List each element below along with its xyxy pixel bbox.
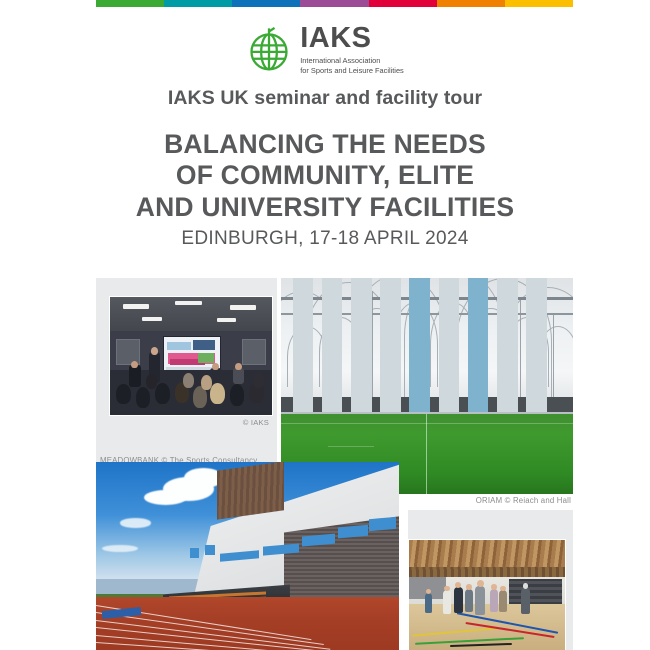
headline-line-1: BALANCING THE NEEDS [0, 129, 650, 160]
logo-wordmark: IAKS [300, 24, 404, 53]
brand-color-bar [96, 0, 573, 7]
seminar-photo-credit: © IAKS [243, 418, 269, 427]
poster-page: IAKS International Association for Sport… [0, 0, 650, 650]
globe-icon [246, 27, 292, 73]
sports-hall-panel [408, 510, 573, 650]
sports-hall-photo [408, 539, 566, 650]
color-bar-segment-teal [164, 0, 232, 7]
seminar-panel: © IAKS MEADOWBANK © The Sports Consultan… [96, 278, 277, 473]
color-bar-segment-yellow [505, 0, 573, 7]
color-bar-segment-green [96, 0, 164, 7]
logo-tagline-line1: International Association [300, 56, 380, 65]
logo-tagline-line2: for Sports and Leisure Facilities [300, 66, 404, 75]
image-gallery: © IAKS MEADOWBANK © The Sports Consultan… [0, 270, 650, 650]
color-bar-segment-crimson [369, 0, 437, 7]
color-bar-segment-orange [437, 0, 505, 7]
color-bar-segment-purple [300, 0, 368, 7]
seminar-room-photo [109, 296, 273, 416]
event-dateline: EDINBURGH, 17-18 APRIL 2024 [0, 228, 650, 250]
athletics-track-photo [96, 462, 399, 650]
color-bar-segment-blue [232, 0, 300, 7]
headline-line-2: OF COMMUNITY, ELITE [0, 160, 650, 191]
headline-line-3: AND UNIVERSITY FACILITIES [0, 192, 650, 223]
event-subtitle: IAKS UK seminar and facility tour [0, 87, 650, 110]
iaks-logo: IAKS International Association for Sport… [0, 24, 650, 76]
event-headline: BALANCING THE NEEDS OF COMMUNITY, ELITE … [0, 129, 650, 223]
